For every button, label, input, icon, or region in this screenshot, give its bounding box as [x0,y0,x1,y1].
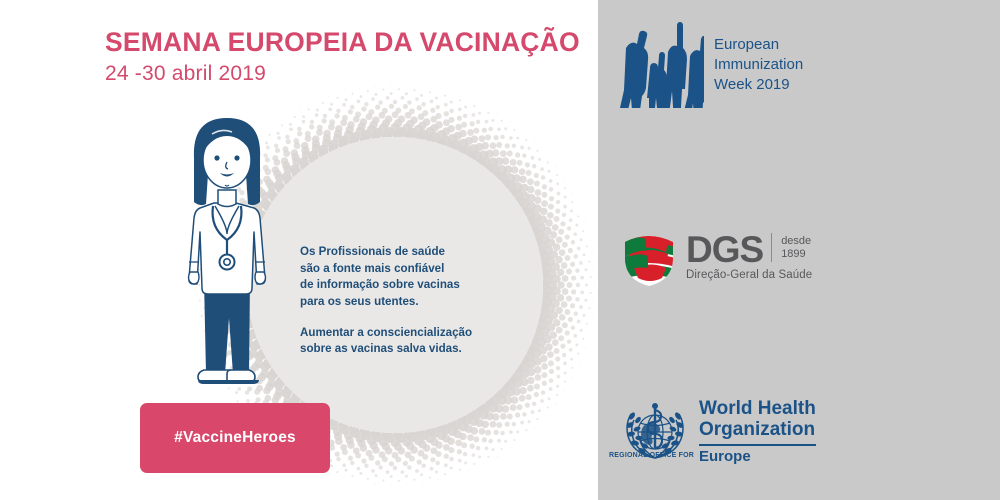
hashtag-banner: #VaccineHeroes [140,403,330,473]
logo-who-europe: World Health Organization REGIONAL OFFIC… [620,398,816,465]
left-content-panel: SEMANA EUROPEIA DA VACINAÇÃO 24 -30 abri… [0,0,598,500]
dgs-tagline: Direção-Geral da Saúde [686,269,812,281]
body-paragraph-2: Aumentar a consciencialização sobre as v… [300,325,540,358]
dgs-since-year: 1899 [781,248,811,261]
who-region-prefix: REGIONAL OFFICE FOR [609,452,694,459]
eiw-text-block: European Immunization Week 2019 [714,35,803,95]
hashtag-label: #VaccineHeroes [174,429,296,447]
poster-root: SEMANA EUROPEIA DA VACINAÇÃO 24 -30 abri… [0,0,1000,500]
dgs-acronym: DGS [686,233,763,267]
body-line: Aumentar a consciencialização [300,325,540,342]
body-line: são a fonte mais confiável [300,261,540,278]
logo-european-immunization-week: European Immunization Week 2019 [620,22,803,108]
dgs-globe-icon [620,228,678,286]
dgs-since-block: desde 1899 [771,233,811,262]
who-text-block: World Health Organization REGIONAL OFFIC… [699,398,816,465]
title-block: SEMANA EUROPEIA DA VACINAÇÃO 24 -30 abri… [105,28,575,86]
right-logo-panel: European Immunization Week 2019 [598,0,1000,500]
eiw-line-2: Immunization [714,55,803,75]
body-copy: Os Profissionais de saúde são a fonte ma… [300,244,540,358]
european-immunization-week-figures-icon [620,22,704,108]
eiw-line-1: European [714,35,803,55]
page-subtitle-dates: 24 -30 abril 2019 [105,62,575,86]
logo-dgs: DGS desde 1899 Direção-Geral da Saúde [620,228,812,286]
body-line: de informação sobre vacinas [300,277,540,294]
body-paragraph-1: Os Profissionais de saúde são a fonte ma… [300,244,540,311]
body-line: sobre as vacinas salva vidas. [300,341,540,358]
who-divider [699,444,816,446]
body-line: Os Profissionais de saúde [300,244,540,261]
dgs-since-label: desde [781,235,811,248]
who-region: Europe [699,448,751,465]
body-line: para os seus utentes. [300,294,540,311]
nurse-illustration [163,112,291,408]
who-line-2: Organization [699,419,816,440]
dgs-text-block: DGS desde 1899 Direção-Geral da Saúde [686,233,812,281]
eiw-line-3: Week 2019 [714,75,803,95]
who-line-1: World Health [699,398,816,419]
who-name: World Health Organization [699,398,816,441]
page-title: SEMANA EUROPEIA DA VACINAÇÃO [105,28,575,57]
